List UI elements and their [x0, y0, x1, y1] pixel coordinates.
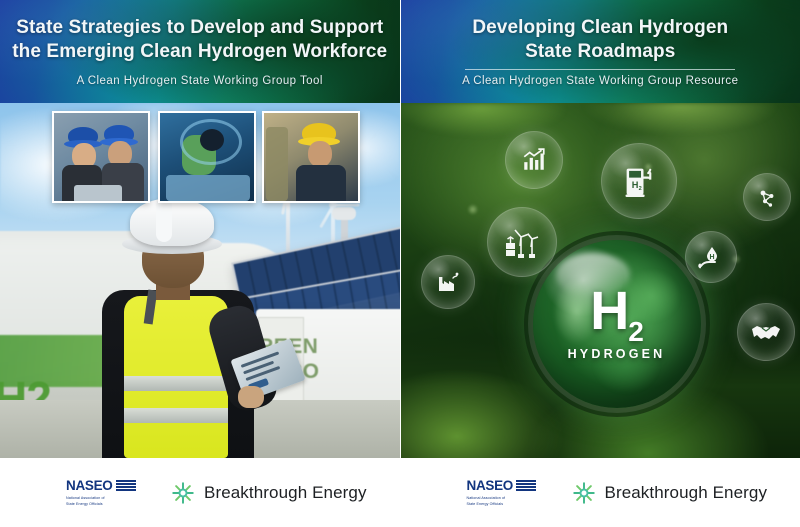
breakthrough-energy-logo[interactable]: Breakthrough Energy — [170, 480, 367, 506]
left-subtitle: A Clean Hydrogen State Working Group Too… — [65, 75, 335, 87]
bubble-factory[interactable] — [421, 255, 475, 309]
molecule-icon — [755, 185, 779, 209]
list-item[interactable] — [158, 111, 256, 203]
right-title-line-1: Developing Clean Hydrogen — [472, 16, 728, 39]
breakthrough-burst-icon — [170, 480, 196, 506]
right-artwork: H2 HYDROGEN H 2 — [401, 103, 800, 458]
bubble-atom[interactable] — [743, 173, 791, 221]
hand-water-drop-icon: H — [698, 244, 724, 270]
left-header-band: State Strategies to Develop and Support … — [0, 0, 400, 103]
panel-right-roadmaps[interactable]: Developing Clean Hydrogen State Roadmaps… — [400, 0, 800, 527]
left-page-title: State Strategies to Develop and Support … — [12, 16, 387, 62]
naseo-tagline: National Association of State Energy Off… — [467, 496, 545, 507]
breakthrough-energy-wordmark: Breakthrough Energy — [605, 483, 768, 503]
naseo-tagline: National Association of State Energy Off… — [66, 496, 144, 507]
list-item[interactable] — [52, 111, 150, 203]
light-pole-head — [332, 207, 356, 220]
worker-hand — [238, 386, 264, 408]
right-page-title: Developing Clean Hydrogen State Roadmaps — [472, 16, 728, 62]
naseo-wordmark: NASEO — [66, 478, 113, 493]
left-title-line-1: State Strategies to Develop and Support — [12, 16, 387, 39]
naseo-wordmark: NASEO — [467, 478, 514, 493]
svg-text:2: 2 — [638, 186, 641, 192]
naseo-tagline-line-2: State Energy Officials — [66, 502, 144, 507]
globe-subscript: 2 — [628, 316, 643, 347]
photo-strip — [0, 103, 400, 207]
cover-pair-page: State Strategies to Develop and Support … — [0, 0, 800, 527]
left-title-line-2: the Emerging Clean Hydrogen Workforce — [12, 40, 387, 63]
hydrogen-globe: H2 HYDROGEN — [533, 240, 701, 408]
naseo-logo[interactable]: NASEO National Association of State Ener… — [467, 478, 545, 507]
globe-h-letter: H — [590, 281, 628, 341]
hydrogen-fuel-pump-icon: H 2 — [621, 163, 657, 199]
panel-divider — [400, 0, 401, 527]
naseo-bars-icon — [116, 480, 136, 491]
breakthrough-burst-icon — [571, 480, 597, 506]
naseo-logo[interactable]: NASEO National Association of State Ener… — [66, 478, 144, 507]
naseo-bars-icon — [516, 480, 536, 491]
foliage-top — [401, 103, 800, 159]
globe-hydrogen-word: HYDROGEN — [568, 347, 666, 361]
bar-chart-icon — [521, 147, 547, 173]
list-item[interactable] — [262, 111, 360, 203]
breakthrough-energy-wordmark: Breakthrough Energy — [204, 483, 367, 503]
panel-left-workforce[interactable]: State Strategies to Develop and Support … — [0, 0, 400, 527]
right-title-line-2: State Roadmaps — [472, 40, 728, 63]
handshake-icon — [751, 320, 781, 344]
globe-h2-symbol: H2 — [590, 287, 643, 345]
right-header-band: Developing Clean Hydrogen State Roadmaps… — [401, 0, 800, 103]
breakthrough-energy-logo[interactable]: Breakthrough Energy — [571, 480, 768, 506]
bubble-hands[interactable] — [737, 303, 795, 361]
right-footer: NASEO National Association of State Ener… — [401, 458, 800, 527]
left-footer: NASEO National Association of State Ener… — [0, 458, 400, 527]
right-subtitle-rule — [465, 69, 735, 70]
svg-text:H: H — [709, 254, 714, 261]
bubble-pump[interactable]: H 2 — [601, 143, 677, 219]
left-artwork: H2 GREEN HYDRO — [0, 103, 400, 458]
factory-icon — [436, 270, 460, 294]
right-subtitle: A Clean Hydrogen State Working Group Res… — [462, 75, 738, 87]
bubble-chart[interactable] — [505, 131, 563, 189]
foreground-worker — [86, 194, 276, 458]
naseo-tagline-line-2: State Energy Officials — [467, 502, 545, 507]
